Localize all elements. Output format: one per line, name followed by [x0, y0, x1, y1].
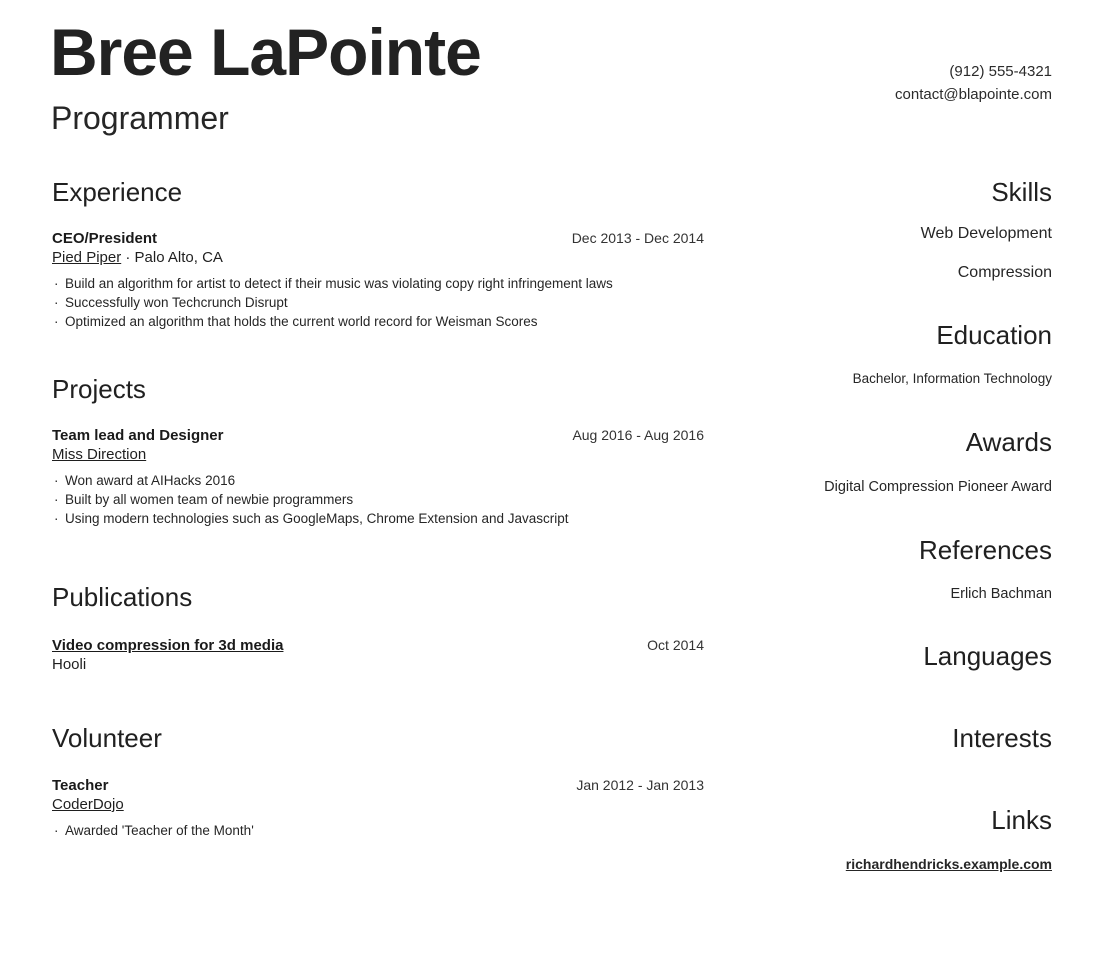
resume-header: Bree LaPointe Programmer (912) 555-4321 …	[0, 0, 1104, 150]
section-volunteer: Volunteer Teacher Jan 2012 - Jan 2013 Co…	[52, 722, 704, 840]
section-heading-skills: Skills	[752, 176, 1052, 208]
entry-subtitle: CoderDojo	[52, 795, 704, 814]
entry-date: Oct 2014	[647, 636, 704, 655]
phone-number: (912) 555-4321	[895, 60, 1052, 83]
section-heading-links: Links	[752, 804, 1052, 836]
section-heading-awards: Awards	[752, 426, 1052, 458]
section-publications: Publications Video compression for 3d me…	[52, 581, 704, 674]
section-links: Links richardhendricks.example.com	[752, 804, 1052, 875]
section-references: References Erlich Bachman	[752, 534, 1052, 604]
skill-item: Compression	[752, 262, 1052, 284]
award-item: Digital Compression Pioneer Award	[752, 477, 1052, 497]
volunteer-entry: Teacher Jan 2012 - Jan 2013 CoderDojo Aw…	[52, 776, 704, 840]
right-column: Skills Web Development Compression Educa…	[752, 176, 1052, 875]
list-item: Successfully won Techcrunch Disrupt	[52, 293, 704, 312]
entry-subtitle: Pied Piper · Palo Alto, CA	[52, 248, 704, 267]
list-item: Build an algorithm for artist to detect …	[52, 274, 704, 293]
entry-organization-link[interactable]: CoderDojo	[52, 796, 124, 813]
resume-page: Bree LaPointe Programmer (912) 555-4321 …	[0, 0, 1104, 963]
entry-title: Team lead and Designer	[52, 426, 223, 445]
section-heading-experience: Experience	[52, 176, 704, 208]
list-item: Using modern technologies such as Google…	[52, 509, 704, 528]
entry-organization-link[interactable]: Pied Piper	[52, 249, 121, 266]
contact-block: (912) 555-4321 contact@blapointe.com	[895, 60, 1052, 106]
section-heading-projects: Projects	[52, 373, 704, 405]
entry-date: Jan 2012 - Jan 2013	[576, 776, 704, 795]
list-item: Optimized an algorithm that holds the cu…	[52, 312, 704, 331]
left-column: Experience CEO/President Dec 2013 - Dec …	[52, 176, 704, 840]
job-title: Programmer	[51, 99, 229, 137]
skill-item: Web Development	[752, 223, 1052, 245]
entry-subtitle: Miss Direction	[52, 445, 704, 464]
section-skills: Skills Web Development Compression	[752, 176, 1052, 284]
list-item: Won award at AIHacks 2016	[52, 471, 704, 490]
entry-title: Teacher	[52, 776, 108, 795]
entry-location: · Palo Alto, CA	[121, 249, 223, 266]
entry-publisher: Hooli	[52, 656, 86, 673]
project-entry: Team lead and Designer Aug 2016 - Aug 20…	[52, 426, 704, 528]
list-item: Awarded 'Teacher of the Month'	[52, 821, 704, 840]
section-experience: Experience CEO/President Dec 2013 - Dec …	[52, 176, 704, 331]
section-languages: Languages	[752, 640, 1052, 672]
experience-entry: CEO/President Dec 2013 - Dec 2014 Pied P…	[52, 229, 704, 331]
reference-item: Erlich Bachman	[752, 584, 1052, 604]
entry-date: Dec 2013 - Dec 2014	[572, 229, 704, 248]
entry-subtitle: Hooli	[52, 655, 704, 674]
section-heading-references: References	[752, 534, 1052, 566]
section-interests: Interests	[752, 722, 1052, 754]
entry-organization-link[interactable]: Miss Direction	[52, 446, 146, 463]
section-projects: Projects Team lead and Designer Aug 2016…	[52, 373, 704, 528]
section-heading-education: Education	[752, 319, 1052, 351]
entry-title-link[interactable]: Video compression for 3d media	[52, 636, 283, 655]
publication-entry: Video compression for 3d media Oct 2014 …	[52, 636, 704, 674]
section-heading-publications: Publications	[52, 581, 704, 613]
entry-bullet-list: Build an algorithm for artist to detect …	[52, 274, 704, 331]
list-item: Built by all women team of newbie progra…	[52, 490, 704, 509]
education-item: Bachelor, Information Technology	[752, 369, 1052, 389]
entry-bullet-list: Awarded 'Teacher of the Month'	[52, 821, 704, 840]
entry-date: Aug 2016 - Aug 2016	[572, 426, 704, 445]
email-address: contact@blapointe.com	[895, 83, 1052, 106]
page-title: Bree LaPointe	[50, 14, 481, 90]
entry-title: CEO/President	[52, 229, 157, 248]
section-education: Education Bachelor, Information Technolo…	[752, 319, 1052, 389]
entry-bullet-list: Won award at AIHacks 2016 Built by all w…	[52, 471, 704, 528]
section-awards: Awards Digital Compression Pioneer Award	[752, 426, 1052, 497]
section-heading-interests: Interests	[752, 722, 1052, 754]
link-item[interactable]: richardhendricks.example.com	[752, 853, 1052, 875]
section-heading-languages: Languages	[752, 640, 1052, 672]
section-heading-volunteer: Volunteer	[52, 722, 704, 754]
